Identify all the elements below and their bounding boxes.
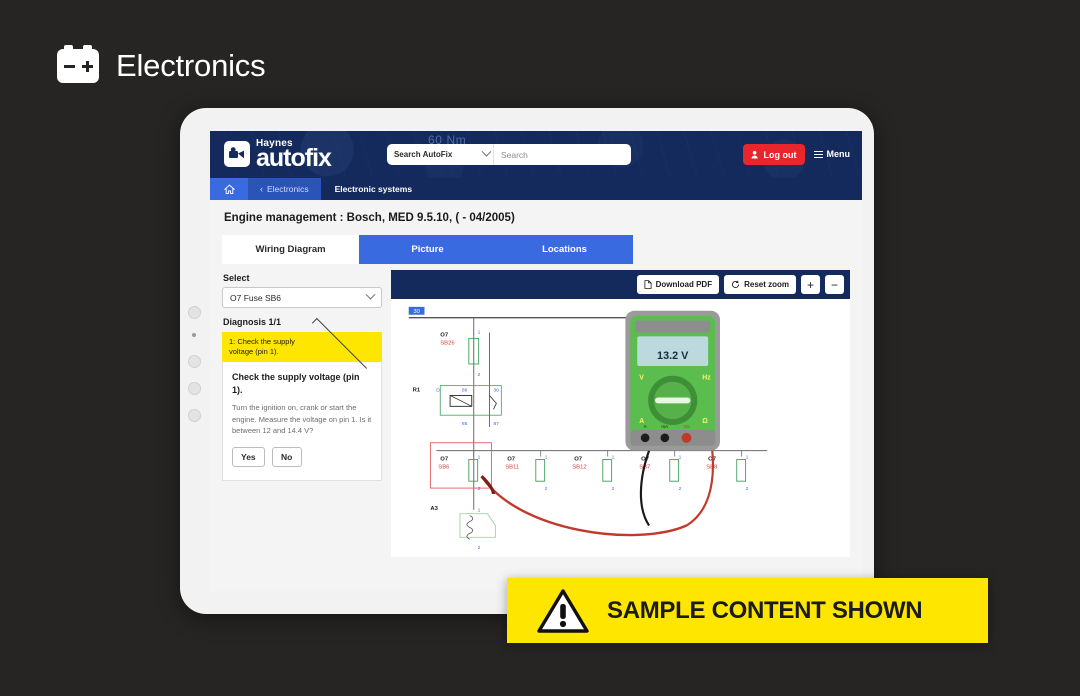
component-select-value: O7 Fuse SB6: [230, 293, 281, 303]
breadcrumb-home[interactable]: [210, 178, 248, 200]
chevron-down-icon: [482, 147, 492, 157]
zoom-out-button[interactable]: −: [825, 275, 844, 294]
fuse-item: O7 SB6 1 2: [438, 451, 480, 492]
menu-button[interactable]: Menu: [814, 149, 851, 160]
svg-text:1: 1: [746, 455, 749, 461]
port-label: mA: [661, 424, 668, 429]
tablet-button[interactable]: [188, 306, 201, 319]
fuse-item: O7 SB12 1 2: [572, 451, 614, 492]
port-label: A: [644, 424, 647, 429]
diagram-panel: Download PDF Reset zoom + −: [391, 270, 850, 557]
diagnosis-step-body: Check the supply voltage (pin 1). Turn t…: [222, 362, 382, 481]
svg-text:SB11: SB11: [505, 464, 519, 470]
relay-terminal: D: [436, 388, 440, 394]
fuse-code: O7: [440, 332, 449, 338]
relay-designation: R1: [413, 388, 421, 394]
select-label: Select: [223, 273, 382, 283]
tab-label: Picture: [411, 244, 443, 255]
download-pdf-button[interactable]: Download PDF: [637, 275, 719, 294]
brand-logo[interactable]: Haynes autofix: [224, 140, 331, 169]
tablet-screen: 60 Nm Haynes autofix Search AutoFix: [210, 131, 862, 591]
svg-text:1: 1: [545, 455, 548, 461]
breadcrumb-current: Electronic systems: [321, 178, 426, 200]
tab-label: Wiring Diagram: [255, 244, 325, 255]
document-title: Engine management : Bosch, MED 9.5.10, (…: [224, 212, 850, 224]
svg-text:2: 2: [478, 486, 481, 492]
svg-text:2: 2: [545, 486, 548, 492]
diagnosis-step-header[interactable]: 1: Check the supply voltage (pin 1).: [222, 332, 382, 362]
dial-label-ohm: Ω: [702, 418, 708, 425]
tablet-button[interactable]: [188, 409, 201, 422]
coil-designation: A3: [430, 506, 438, 512]
fuse-row: O7 SB6 1 2 O7 SB11: [438, 451, 748, 492]
breadcrumb-current-label: Electronic systems: [335, 184, 412, 194]
chevron-down-icon: [366, 290, 376, 300]
svg-text:2: 2: [746, 486, 749, 492]
home-icon: [224, 184, 235, 195]
fuse-item: O7 SB7 1 2: [639, 451, 681, 492]
diagnosis-step-title: Check the supply voltage (pin 1).: [232, 371, 372, 396]
sample-content-banner: SAMPLE CONTENT SHOWN: [507, 578, 988, 643]
breadcrumb: ‹ Electronics Electronic systems: [210, 178, 862, 200]
svg-text:1: 1: [679, 455, 682, 461]
tablet-side-buttons: [188, 306, 206, 436]
multimeter: 13.2 V V Hz A Ω: [625, 311, 720, 451]
user-icon: [751, 150, 760, 159]
diagnosis-panel: Select O7 Fuse SB6 Diagnosis 1/1 1: Chec…: [222, 270, 382, 557]
relay-terminal: 30: [493, 388, 499, 394]
svg-text:2: 2: [612, 486, 615, 492]
page-header: Electronics: [57, 48, 265, 84]
relay-terminal: 86: [462, 388, 468, 394]
pin-label: 2: [478, 545, 481, 551]
tab-label: Locations: [542, 244, 587, 255]
breadcrumb-previous-label: Electronics: [267, 184, 309, 194]
app-topbar: 60 Nm Haynes autofix Search AutoFix: [210, 131, 862, 178]
tablet-device: 60 Nm Haynes autofix Search AutoFix: [180, 108, 874, 614]
breadcrumb-previous[interactable]: ‹ Electronics: [248, 178, 321, 200]
warning-triangle-icon: [537, 588, 589, 634]
battery-icon: [57, 49, 99, 83]
answer-no-button[interactable]: No: [272, 447, 302, 467]
tab-picture[interactable]: Picture: [359, 235, 496, 264]
tablet-button[interactable]: [188, 355, 201, 368]
hamburger-icon: [814, 149, 823, 160]
component-select[interactable]: O7 Fuse SB6: [222, 287, 382, 308]
answer-buttons: Yes No: [232, 447, 372, 467]
tablet-indicator: [192, 333, 196, 337]
menu-label: Menu: [827, 149, 851, 159]
port-label: VΩ: [683, 424, 690, 429]
tab-bar: Wiring Diagram Picture Locations: [222, 235, 850, 264]
svg-text:O7: O7: [507, 457, 516, 463]
svg-text:2: 2: [679, 486, 682, 492]
zoom-in-button[interactable]: +: [801, 275, 820, 294]
reset-zoom-button[interactable]: Reset zoom: [724, 275, 796, 294]
brand-autofix: autofix: [256, 148, 331, 169]
dial-label-v: V: [639, 375, 644, 382]
fuse-item: O7 SB11 1 2: [505, 451, 547, 492]
search-bar: Search AutoFix Search: [387, 144, 631, 165]
multimeter-reading: 13.2 V: [657, 350, 689, 362]
refresh-icon: [731, 280, 740, 289]
app-content: Engine management : Bosch, MED 9.5.10, (…: [210, 200, 862, 557]
relay-terminal: 85: [462, 421, 468, 427]
diagnosis-step-text: Turn the ignition on, crank or start the…: [232, 402, 372, 436]
search-category-value: Search AutoFix: [394, 150, 452, 159]
svg-text:1: 1: [612, 455, 615, 461]
document-icon: [644, 280, 652, 289]
svg-text:SB6: SB6: [438, 464, 450, 470]
answer-yes-button[interactable]: Yes: [232, 447, 265, 467]
fuse-id: SB26: [440, 340, 455, 346]
svg-text:O7: O7: [574, 457, 583, 463]
dial-label-hz: Hz: [702, 375, 711, 382]
svg-text:SB12: SB12: [572, 464, 586, 470]
search-category-select[interactable]: Search AutoFix: [391, 144, 494, 165]
download-pdf-label: Download PDF: [656, 280, 712, 289]
diagnosis-header: Diagnosis 1/1: [223, 317, 382, 327]
logout-button[interactable]: Log out: [743, 144, 805, 165]
relay-terminal: 87: [493, 421, 499, 427]
chevron-left-icon: ‹: [260, 184, 263, 194]
tab-wiring-diagram[interactable]: Wiring Diagram: [222, 235, 359, 264]
banner-text: SAMPLE CONTENT SHOWN: [607, 597, 922, 625]
wiring-diagram-svg: 30 O7 SB26 1 2: [391, 299, 850, 557]
pin-label: 2: [478, 372, 481, 378]
search-input[interactable]: Search: [494, 150, 627, 160]
rail-label: 30: [413, 309, 420, 315]
diagnosis-step-summary: 1: Check the supply voltage (pin 1).: [229, 337, 299, 357]
tab-locations[interactable]: Locations: [496, 235, 633, 264]
reset-zoom-label: Reset zoom: [744, 280, 789, 289]
mechanic-icon: [228, 146, 246, 162]
haynes-badge-icon: [224, 141, 250, 167]
logout-label: Log out: [764, 150, 797, 160]
diagram-toolbar: Download PDF Reset zoom + −: [391, 270, 850, 299]
svg-text:O7: O7: [440, 457, 449, 463]
pin-label: 1: [478, 508, 481, 514]
page-title: Electronics: [116, 48, 265, 84]
tablet-button[interactable]: [188, 382, 201, 395]
svg-text:1: 1: [478, 455, 481, 461]
wiring-diagram-canvas[interactable]: 30 O7 SB26 1 2: [391, 299, 850, 557]
pin-label: 1: [478, 329, 481, 335]
